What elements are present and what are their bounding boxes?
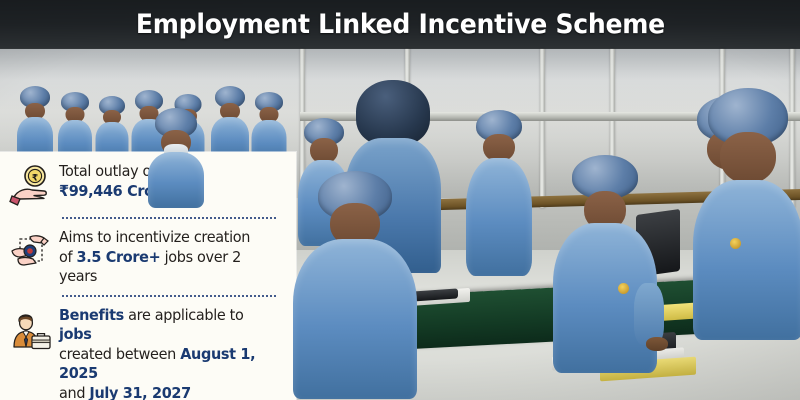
fact-line: Total outlay of bbox=[59, 162, 156, 180]
fact-text: Aims to incentivize creation of 3.5 Cror… bbox=[59, 227, 275, 287]
fact-text: Benefits are applicable to jobs created … bbox=[59, 305, 275, 400]
fact-highlight: 3.5 Crore+ bbox=[77, 248, 161, 266]
worker-figure bbox=[212, 86, 248, 158]
page-title: Employment Linked Incentive Scheme bbox=[136, 9, 665, 40]
fact-line: Aims to incentivize creation bbox=[59, 228, 250, 246]
fact-separator bbox=[62, 217, 276, 219]
fact-item: ₹ Total outlay of ₹99,446 Crore bbox=[8, 161, 286, 209]
fact-item: Aims to incentivize creation of 3.5 Cror… bbox=[8, 227, 286, 287]
fact-highlight: jobs bbox=[59, 325, 91, 343]
worker-figure-foreground bbox=[700, 88, 796, 308]
worker-figure bbox=[18, 86, 52, 156]
fact-line-prefix: of bbox=[59, 248, 77, 266]
worker-figure-foreground bbox=[300, 215, 410, 400]
title-band: Employment Linked Incentive Scheme bbox=[0, 0, 800, 49]
fact-item: Benefits are applicable to jobs created … bbox=[8, 305, 286, 400]
svg-text:₹: ₹ bbox=[32, 173, 38, 183]
fact-separator bbox=[62, 295, 276, 297]
glass-mullion bbox=[540, 48, 545, 208]
fact-highlight: July 31, 2027 bbox=[89, 384, 190, 400]
infographic-root: Employment Linked Incentive Scheme ₹ Tot… bbox=[0, 0, 800, 400]
worker-figure-masked bbox=[150, 108, 202, 196]
worker-figure bbox=[470, 110, 528, 270]
fact-line-mid: are applicable to bbox=[124, 306, 244, 324]
fact-highlight: Benefits bbox=[59, 306, 124, 324]
worker-figure bbox=[96, 96, 128, 158]
fact-line-prefix: created between bbox=[59, 345, 180, 363]
worker-figure-foreground bbox=[560, 165, 650, 365]
worker-figure bbox=[58, 92, 92, 158]
businessperson-briefcase-icon bbox=[8, 307, 54, 353]
hands-target-focus-icon bbox=[8, 229, 54, 275]
fact-line-prefix: and bbox=[59, 384, 89, 400]
hand-holding-rupee-coin-icon: ₹ bbox=[8, 163, 54, 209]
worker-figure bbox=[252, 92, 286, 158]
